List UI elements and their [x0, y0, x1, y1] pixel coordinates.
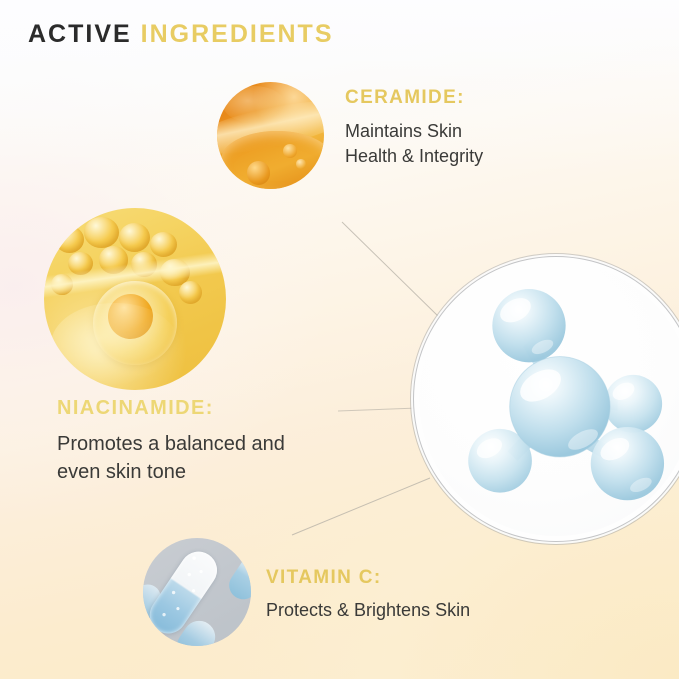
- ceramide-description: Maintains Skin Health & Integrity: [345, 119, 483, 169]
- vitaminc-title: VITAMIN C:: [266, 568, 470, 587]
- niacinamide-bubble: [55, 226, 84, 253]
- niacinamide-bubble: [179, 281, 203, 305]
- ceramide-droplet-large: [247, 161, 271, 185]
- ceramide-title: CERAMIDE:: [345, 88, 483, 107]
- niacinamide-title: NIACINAMIDE:: [57, 398, 285, 418]
- niacinamide-bubble: [84, 217, 119, 248]
- niacinamide-text-block: NIACINAMIDE: Promotes a balanced and eve…: [57, 398, 285, 486]
- molecule-circle: [414, 257, 679, 541]
- vitaminc-text-block: VITAMIN C: Protects & Brightens Skin: [266, 568, 470, 623]
- ceramide-text-block: CERAMIDE: Maintains Skin Health & Integr…: [345, 88, 483, 169]
- page-title-active: ACTIVE: [28, 20, 132, 48]
- niacinamide-sheen: [51, 303, 178, 387]
- page-title: ACTIVE INGREDIENTS: [28, 22, 334, 47]
- molecule-circle-face: [419, 262, 679, 536]
- niacinamide-bubble: [119, 223, 150, 252]
- molecule-icon: [419, 262, 679, 536]
- vitaminc-photo: [143, 538, 251, 646]
- ceramide-swirl-lower: [221, 131, 324, 189]
- page-title-ingredients: INGREDIENTS: [141, 20, 334, 48]
- ingredients-infographic: ACTIVE INGREDIENTS CERAMIDE: Maintains S…: [0, 0, 679, 679]
- ceramide-droplet-small: [296, 159, 306, 169]
- ceramide-photo: [217, 82, 324, 189]
- vitaminc-description: Protects & Brightens Skin: [266, 598, 470, 623]
- niacinamide-photo: [44, 208, 226, 390]
- niacinamide-description: Promotes a balanced and even skin tone: [57, 431, 285, 486]
- niacinamide-bubble: [150, 232, 177, 257]
